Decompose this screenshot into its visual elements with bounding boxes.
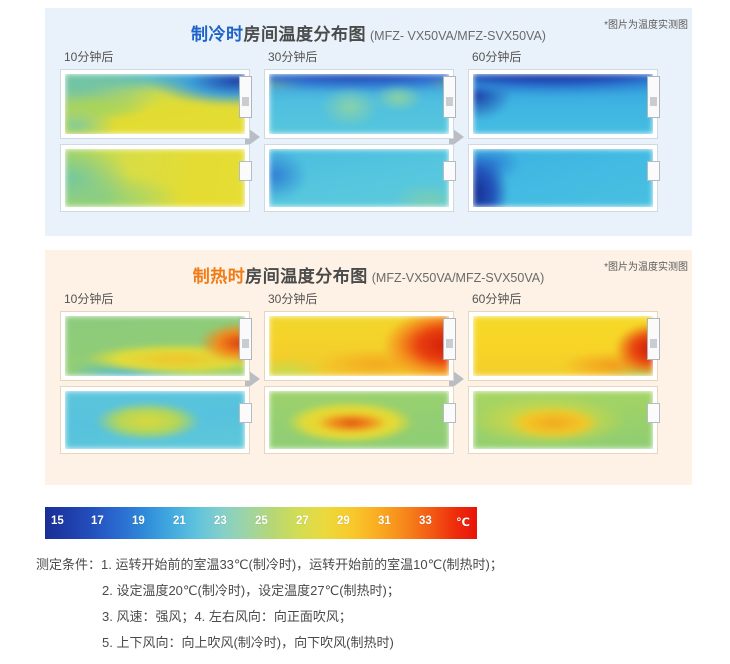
ac-indoor-unit-marker bbox=[443, 76, 456, 118]
ac-vane bbox=[446, 339, 453, 348]
scale-unit-label: ℃ bbox=[456, 515, 470, 529]
temperature-color-scale: 15 17 19 21 23 25 27 29 31 33 ℃ bbox=[45, 507, 477, 539]
thermal-frame-side bbox=[264, 311, 454, 381]
ac-indoor-unit-marker bbox=[647, 161, 660, 181]
heating-column-label: 10分钟后 bbox=[60, 290, 250, 307]
scale-tick-27: 27 bbox=[296, 515, 309, 527]
measurement-conditions: 测定条件：1. 运转开始前的室温33℃(制冷时)，运转开始前的室温10℃(制热时… bbox=[36, 552, 696, 656]
heating-column-60min: 60分钟后 bbox=[468, 290, 658, 459]
cooling-model-code: (MFZ- VX50VA/MFZ-SVX50VA) bbox=[370, 29, 546, 43]
thermal-image-heating-60min-side bbox=[473, 316, 653, 376]
cooling-panel-title: 制冷时房间温度分布图(MFZ- VX50VA/MFZ-SVX50VA) bbox=[45, 20, 692, 45]
cooling-columns: 10分钟后 30分钟后 bbox=[45, 48, 692, 218]
scale-tick-25: 25 bbox=[255, 515, 268, 527]
thermal-image-cooling-30min-side bbox=[269, 74, 449, 134]
ac-vane bbox=[242, 97, 249, 106]
thermal-frame-plan bbox=[468, 386, 658, 454]
heating-column-label: 30分钟后 bbox=[264, 290, 454, 307]
thermal-image-cooling-10min-plan bbox=[65, 149, 245, 207]
thermal-frame-side bbox=[264, 69, 454, 139]
scale-tick-17: 17 bbox=[91, 515, 104, 527]
thermal-frame-side bbox=[468, 311, 658, 381]
thermal-image-heating-30min-plan bbox=[269, 391, 449, 449]
ac-indoor-unit-marker bbox=[647, 76, 660, 118]
cooling-column-10min: 10分钟后 bbox=[60, 48, 250, 217]
heating-column-label: 60分钟后 bbox=[468, 290, 658, 307]
condition-line-2: 2. 设定温度20℃(制冷时)，设定温度27℃(制热时)； bbox=[36, 578, 696, 604]
ac-vane bbox=[650, 97, 657, 106]
ac-indoor-unit-marker bbox=[443, 318, 456, 360]
ac-indoor-unit-marker bbox=[647, 403, 660, 423]
scale-tick-21: 21 bbox=[173, 515, 186, 527]
thermal-image-heating-10min-plan bbox=[65, 391, 245, 449]
condition-line-3: 3. 风速：强风；4. 左右风向：向正面吹风； bbox=[36, 604, 696, 630]
thermal-frame-side bbox=[60, 311, 250, 381]
thermal-image-cooling-60min-plan bbox=[473, 149, 653, 207]
heating-panel-header: 制热时房间温度分布图(MFZ-VX50VA/MFZ-SVX50VA) *图片为温… bbox=[45, 250, 692, 290]
thermal-image-heating-30min-side bbox=[269, 316, 449, 376]
thermal-frame-plan bbox=[264, 386, 454, 454]
thermal-frame-side bbox=[468, 69, 658, 139]
ac-vane bbox=[242, 339, 249, 348]
heating-column-10min: 10分钟后 bbox=[60, 290, 250, 459]
scale-tick-23: 23 bbox=[214, 515, 227, 527]
thermal-image-cooling-30min-plan bbox=[269, 149, 449, 207]
cooling-column-label: 60分钟后 bbox=[468, 48, 658, 65]
scale-tick-15: 15 bbox=[51, 515, 64, 527]
cooling-column-label: 30分钟后 bbox=[264, 48, 454, 65]
cooling-distribution-panel: 制冷时房间温度分布图(MFZ- VX50VA/MFZ-SVX50VA) *图片为… bbox=[45, 8, 692, 236]
heating-panel-title: 制热时房间温度分布图(MFZ-VX50VA/MFZ-SVX50VA) bbox=[45, 262, 692, 287]
thermal-frame-side bbox=[60, 69, 250, 139]
heating-columns: 10分钟后 30分钟后 bbox=[45, 290, 692, 460]
ac-vane bbox=[650, 339, 657, 348]
ac-vane bbox=[446, 97, 453, 106]
cooling-title-accent: 制冷时 bbox=[191, 25, 244, 44]
heating-panel-note: *图片为温度实测图 bbox=[604, 258, 688, 273]
condition-line-1: 测定条件：1. 运转开始前的室温33℃(制冷时)，运转开始前的室温10℃(制热时… bbox=[36, 552, 696, 578]
cooling-column-label: 10分钟后 bbox=[60, 48, 250, 65]
heating-title-accent: 制热时 bbox=[193, 267, 246, 286]
thermal-frame-plan bbox=[60, 144, 250, 212]
thermal-frame-plan bbox=[468, 144, 658, 212]
thermal-image-cooling-60min-side bbox=[473, 74, 653, 134]
ac-indoor-unit-marker bbox=[647, 318, 660, 360]
thermal-image-heating-60min-plan bbox=[473, 391, 653, 449]
cooling-title-rest: 房间温度分布图 bbox=[244, 25, 367, 44]
heating-title-rest: 房间温度分布图 bbox=[245, 267, 368, 286]
cooling-column-30min: 30分钟后 bbox=[264, 48, 454, 217]
heating-distribution-panel: 制热时房间温度分布图(MFZ-VX50VA/MFZ-SVX50VA) *图片为温… bbox=[45, 250, 692, 485]
scale-tick-33: 33 bbox=[419, 515, 432, 527]
thermal-frame-plan bbox=[264, 144, 454, 212]
cooling-column-60min: 60分钟后 bbox=[468, 48, 658, 217]
scale-tick-19: 19 bbox=[132, 515, 145, 527]
ac-indoor-unit-marker bbox=[239, 76, 252, 118]
ac-indoor-unit-marker bbox=[443, 403, 456, 423]
scale-tick-31: 31 bbox=[378, 515, 391, 527]
cooling-panel-note: *图片为温度实测图 bbox=[604, 16, 688, 31]
ac-indoor-unit-marker bbox=[239, 403, 252, 423]
thermal-image-heating-10min-side bbox=[65, 316, 245, 376]
heating-model-code: (MFZ-VX50VA/MFZ-SVX50VA) bbox=[372, 271, 544, 285]
condition-line-4: 5. 上下风向：向上吹风(制冷时)，向下吹风(制热时) bbox=[36, 630, 696, 656]
scale-tick-29: 29 bbox=[337, 515, 350, 527]
ac-indoor-unit-marker bbox=[239, 318, 252, 360]
ac-indoor-unit-marker bbox=[239, 161, 252, 181]
cooling-panel-header: 制冷时房间温度分布图(MFZ- VX50VA/MFZ-SVX50VA) *图片为… bbox=[45, 8, 692, 48]
thermal-frame-plan bbox=[60, 386, 250, 454]
thermal-image-cooling-10min-side bbox=[65, 74, 245, 134]
ac-indoor-unit-marker bbox=[443, 161, 456, 181]
heating-column-30min: 30分钟后 bbox=[264, 290, 454, 459]
